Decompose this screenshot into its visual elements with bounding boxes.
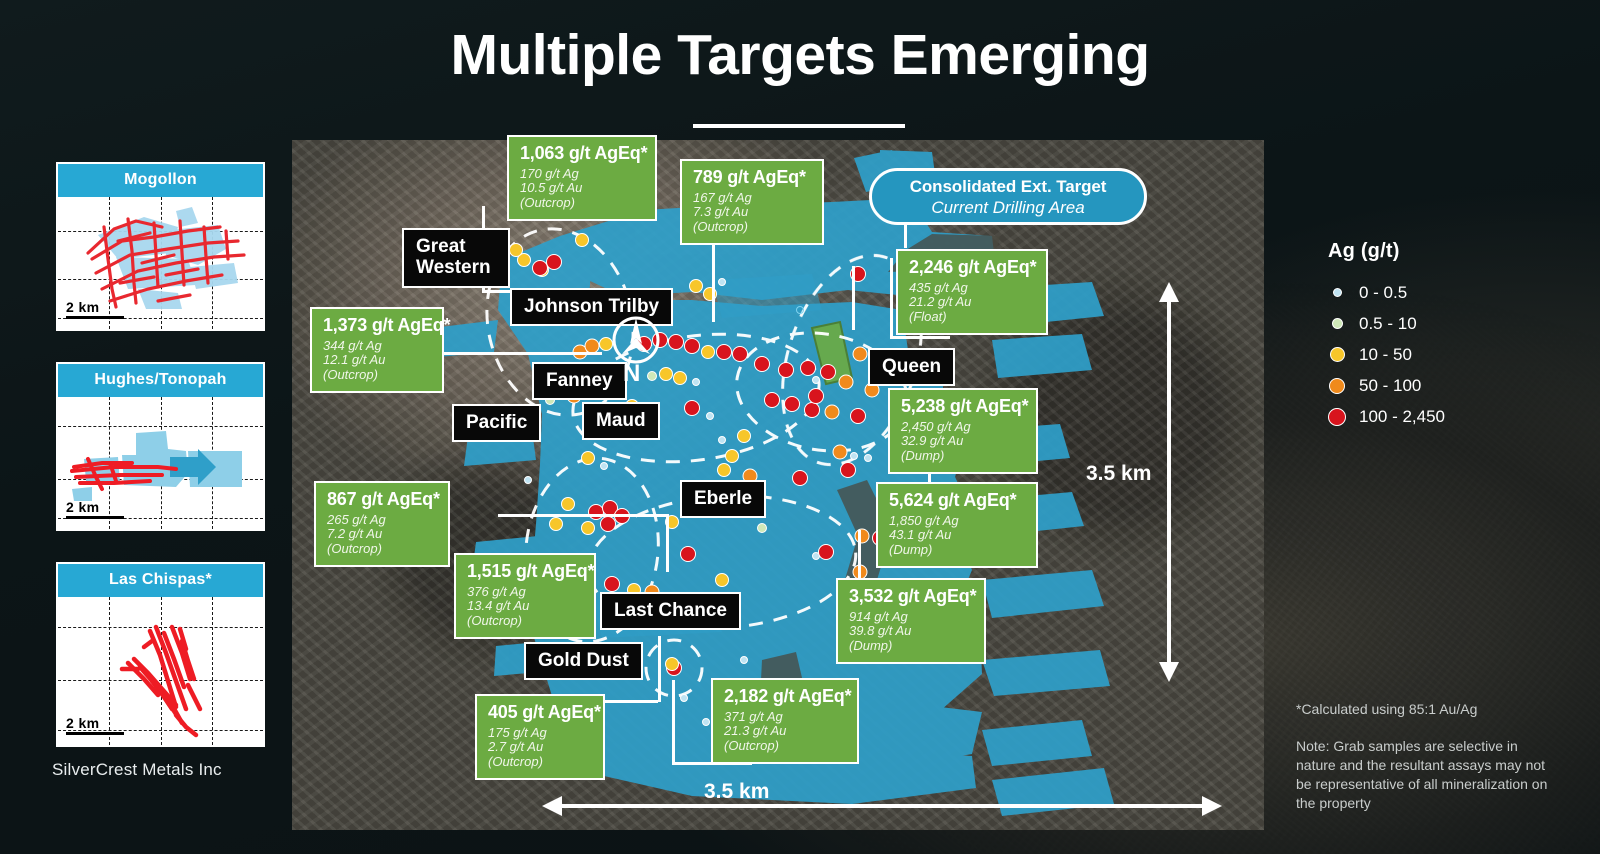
callout-ag: 371 g/t Ag: [724, 710, 848, 725]
leader-line: [442, 352, 602, 355]
sample-point: [855, 529, 870, 544]
sample-point: [833, 445, 848, 460]
sample-point: [808, 388, 824, 404]
sample-point: [524, 476, 532, 484]
sample-point: [796, 306, 804, 314]
sample-point: [800, 360, 816, 376]
sample-point: [600, 462, 608, 470]
slide-root: Multiple Targets Emerging Mogollon: [0, 0, 1600, 854]
sample-point: [706, 412, 714, 420]
callout-1063[interactable]: 1,063 g/t AgEq* 170 g/t Ag 10.5 g/t Au (…: [507, 135, 657, 221]
callout-au: 21.3 g/t Au: [724, 724, 848, 739]
legend: Ag (g/t) 0 - 0.5 0.5 - 10 10 - 50 50 - 1…: [1328, 240, 1445, 432]
banner-line-2: Current Drilling Area: [872, 198, 1144, 218]
callout-value: 2,182 g/t AgEq*: [724, 686, 848, 707]
leader-line: [672, 680, 675, 764]
title-divider: [693, 124, 905, 128]
sample-point: [684, 338, 700, 354]
callout-type: (Outcrop): [520, 196, 646, 211]
vein-label-pacific[interactable]: Pacific: [452, 404, 541, 442]
sample-point: [668, 334, 684, 350]
callout-type: (Outcrop): [693, 220, 813, 235]
callout-ag: 376 g/t Ag: [467, 585, 585, 600]
callout-ag: 344 g/t Ag: [323, 339, 433, 354]
callout-type: (Outcrop): [327, 542, 439, 557]
sample-point: [764, 392, 780, 408]
callout-867[interactable]: 867 g/t AgEq* 265 g/t Ag 7.2 g/t Au (Out…: [314, 481, 450, 567]
minipanel-hughes-tonopah: Hughes/Tonopah: [56, 362, 265, 531]
legend-swatch-100-2450: [1328, 408, 1346, 426]
sample-point: [581, 521, 595, 535]
vertical-scale-arrow: [1158, 282, 1180, 682]
legend-swatch-50-100: [1329, 378, 1345, 394]
vein-label-last-chance[interactable]: Last Chance: [600, 592, 741, 630]
callout-au: 21.2 g/t Au: [909, 295, 1037, 310]
scale-vertical-label: 3.5 km: [1086, 462, 1151, 486]
sample-point: [549, 517, 563, 531]
sample-point: [754, 356, 770, 372]
footnote-calculation: *Calculated using 85:1 Au/Ag: [1296, 700, 1552, 719]
callout-2182[interactable]: 2,182 g/t AgEq* 371 g/t Ag 21.3 g/t Au (…: [711, 678, 859, 764]
sample-point: [717, 463, 731, 477]
sample-point: [581, 451, 595, 465]
callout-789[interactable]: 789 g/t AgEq* 167 g/t Ag 7.3 g/t Au (Out…: [680, 159, 824, 245]
sample-point: [818, 544, 834, 560]
leader-line: [658, 636, 661, 702]
sample-point: [546, 254, 562, 270]
company-name: SilverCrest Metals Inc: [52, 760, 222, 780]
callout-value: 3,532 g/t AgEq*: [849, 586, 975, 607]
callout-type: (Dump): [889, 543, 1027, 558]
callout-ag: 914 g/t Ag: [849, 610, 975, 625]
minipanel-scalebar: 2 km: [66, 499, 124, 519]
callout-1373[interactable]: 1,373 g/t AgEq* 344 g/t Ag 12.1 g/t Au (…: [310, 307, 444, 393]
sample-point: [689, 279, 703, 293]
legend-row[interactable]: 50 - 100: [1328, 370, 1445, 401]
callout-value: 5,624 g/t AgEq*: [889, 490, 1027, 511]
callout-5238[interactable]: 5,238 g/t AgEq* 2,450 g/t Ag 32.9 g/t Au…: [888, 388, 1038, 474]
callout-ag: 435 g/t Ag: [909, 281, 1037, 296]
callout-type: (Float): [909, 310, 1037, 325]
legend-label: 100 - 2,450: [1359, 407, 1445, 427]
sample-point: [647, 371, 657, 381]
sample-point: [792, 470, 808, 486]
callout-type: (Dump): [901, 449, 1027, 464]
sample-point: [600, 516, 616, 532]
legend-row[interactable]: 10 - 50: [1328, 339, 1445, 370]
callout-type: (Outcrop): [467, 614, 585, 629]
leader-line: [666, 514, 669, 572]
legend-row[interactable]: 100 - 2,450: [1328, 401, 1445, 432]
minipanel-las-chispas: Las Chispas*: [56, 562, 265, 747]
sample-point: [839, 375, 854, 390]
callout-value: 1,373 g/t AgEq*: [323, 315, 433, 336]
sample-point: [732, 346, 748, 362]
legend-label: 50 - 100: [1359, 376, 1421, 396]
minipanel-scalebar: 2 km: [66, 299, 124, 319]
callout-value: 5,238 g/t AgEq*: [901, 396, 1027, 417]
sample-point: [604, 576, 620, 592]
minipanel-map: 2 km: [58, 397, 263, 529]
callout-type: (Outcrop): [488, 755, 594, 770]
legend-label: 0.5 - 10: [1359, 314, 1417, 334]
callout-au: 43.1 g/t Au: [889, 528, 1027, 543]
minipanel-title: Hughes/Tonopah: [58, 364, 263, 397]
callout-au: 10.5 g/t Au: [520, 181, 646, 196]
sample-point: [718, 436, 726, 444]
callout-ag: 265 g/t Ag: [327, 513, 439, 528]
sample-point: [692, 378, 700, 386]
legend-label: 0 - 0.5: [1359, 283, 1407, 303]
sample-point: [665, 657, 679, 671]
leader-line: [890, 258, 893, 338]
callout-2246[interactable]: 2,246 g/t AgEq* 435 g/t Ag 21.2 g/t Au (…: [896, 249, 1048, 335]
compass-icon: [610, 314, 662, 366]
callout-ag: 1,850 g/t Ag: [889, 514, 1027, 529]
scale-horizontal-label: 3.5 km: [704, 780, 769, 804]
sample-point: [509, 243, 523, 257]
minipanel-scalebar: 2 km: [66, 715, 124, 735]
sample-point: [850, 408, 866, 424]
sample-point: [701, 345, 715, 359]
legend-swatch-0-0-5: [1333, 288, 1342, 297]
vein-label-gold-dust[interactable]: Gold Dust: [524, 642, 643, 680]
callout-ag: 2,450 g/t Ag: [901, 420, 1027, 435]
sample-point: [864, 454, 872, 462]
sample-point: [680, 694, 688, 702]
callout-405[interactable]: 405 g/t AgEq* 175 g/t Ag 2.7 g/t Au (Out…: [475, 694, 605, 780]
callout-au: 7.2 g/t Au: [327, 527, 439, 542]
callout-value: 405 g/t AgEq*: [488, 702, 594, 723]
legend-row[interactable]: 0 - 0.5: [1328, 277, 1445, 308]
leader-line: [712, 236, 715, 322]
sample-point: [853, 347, 868, 362]
sample-point: [725, 449, 739, 463]
callout-value: 789 g/t AgEq*: [693, 167, 813, 188]
callout-ag: 175 g/t Ag: [488, 726, 594, 741]
footnote-block: *Calculated using 85:1 Au/Ag Note: Grab …: [1296, 700, 1552, 812]
callout-type: (Outcrop): [323, 368, 433, 383]
callout-3532[interactable]: 3,532 g/t AgEq* 914 g/t Ag 39.8 g/t Au (…: [836, 578, 986, 664]
sample-point: [812, 376, 820, 384]
callout-au: 39.8 g/t Au: [849, 624, 975, 639]
sample-point: [715, 573, 729, 587]
sample-point: [825, 405, 840, 420]
sample-point: [716, 344, 732, 360]
callout-value: 1,063 g/t AgEq*: [520, 143, 646, 164]
sample-point: [757, 523, 767, 533]
callout-au: 32.9 g/t Au: [901, 434, 1027, 449]
minipanel-mogollon: Mogollon: [56, 162, 265, 331]
callout-au: 7.3 g/t Au: [693, 205, 813, 220]
minipanel-title: Las Chispas*: [58, 564, 263, 597]
callout-au: 2.7 g/t Au: [488, 740, 594, 755]
footnote-note: Note: Grab samples are selective in natu…: [1296, 737, 1552, 813]
sample-point: [673, 371, 687, 385]
sample-point: [561, 497, 575, 511]
legend-swatch-0-5-10: [1332, 318, 1343, 329]
sample-point: [575, 233, 589, 247]
vein-label-maud[interactable]: Maud: [582, 402, 660, 440]
sample-point: [778, 362, 794, 378]
callout-ag: 167 g/t Ag: [693, 191, 813, 206]
vein-label-eberle[interactable]: Eberle: [680, 480, 766, 518]
leader-line: [498, 514, 668, 517]
legend-label: 10 - 50: [1359, 345, 1412, 365]
horizontal-scale-arrow: [542, 795, 1222, 817]
sample-point: [684, 400, 700, 416]
legend-swatch-10-50: [1330, 347, 1345, 362]
callout-value: 2,246 g/t AgEq*: [909, 257, 1037, 278]
sample-point: [740, 656, 748, 664]
callout-au: 12.1 g/t Au: [323, 353, 433, 368]
sample-point: [820, 364, 836, 380]
minipanel-title: Mogollon: [58, 164, 263, 197]
minipanel-map: 2 km: [58, 597, 263, 745]
callout-type: (Outcrop): [724, 739, 848, 754]
consolidated-target-banner[interactable]: Consolidated Ext. Target Current Drillin…: [869, 168, 1147, 225]
sample-point: [718, 278, 726, 286]
sample-point: [850, 452, 858, 460]
vein-label-great-western[interactable]: Great Western: [402, 228, 510, 288]
callout-1515[interactable]: 1,515 g/t AgEq* 376 g/t Ag 13.4 g/t Au (…: [454, 553, 596, 639]
north-label: N: [623, 360, 640, 388]
callout-ag: 170 g/t Ag: [520, 167, 646, 182]
sample-point: [702, 718, 710, 726]
legend-title: Ag (g/t): [1328, 240, 1445, 263]
leader-line: [890, 336, 950, 339]
north-arrow: N: [610, 314, 662, 371]
sample-point: [840, 462, 856, 478]
callout-5624[interactable]: 5,624 g/t AgEq* 1,850 g/t Ag 43.1 g/t Au…: [876, 482, 1038, 568]
callout-value: 867 g/t AgEq*: [327, 489, 439, 510]
banner-line-1: Consolidated Ext. Target: [872, 177, 1144, 197]
sample-point: [784, 396, 800, 412]
vein-label-queen[interactable]: Queen: [868, 348, 955, 386]
callout-value: 1,515 g/t AgEq*: [467, 561, 585, 582]
page-title: Multiple Targets Emerging: [0, 22, 1600, 88]
callout-au: 13.4 g/t Au: [467, 599, 585, 614]
minipanel-map: 2 km: [58, 197, 263, 329]
sample-point: [804, 402, 820, 418]
sample-point: [737, 429, 751, 443]
leader-line: [852, 266, 855, 330]
sample-point: [680, 546, 696, 562]
callout-type: (Dump): [849, 639, 975, 654]
legend-row[interactable]: 0.5 - 10: [1328, 308, 1445, 339]
